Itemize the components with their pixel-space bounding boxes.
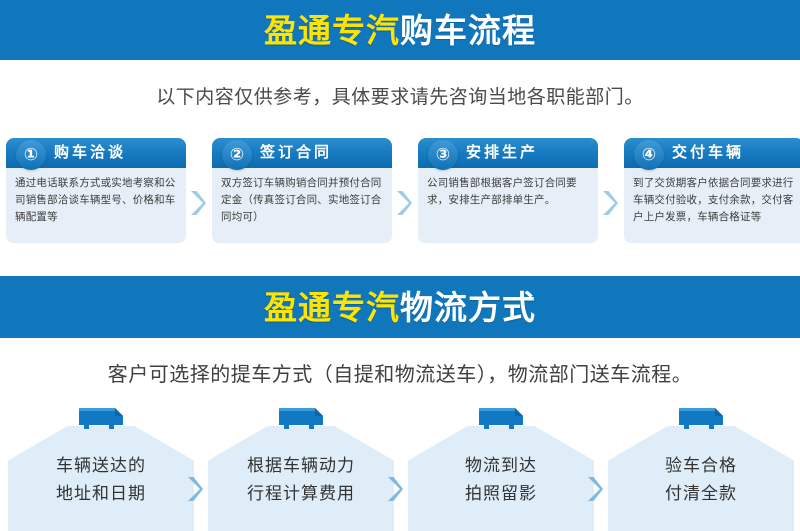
stage-line-2: 行程计算费用 — [208, 480, 394, 508]
purchase-banner: 盈通专汽购车流程 — [0, 0, 800, 60]
truck-icon — [73, 404, 129, 434]
stage-line-2: 付清全款 — [608, 480, 794, 508]
logistics-banner-highlight: 盈通专汽 — [264, 289, 400, 326]
step-title-1: 购车洽谈 — [54, 138, 126, 168]
purchase-banner-title: 盈通专汽购车流程 — [264, 14, 536, 47]
logistics-subtitle: 客户可选择的提车方式（自提和物流送车），物流部门送车流程。 — [0, 358, 800, 387]
stage-line-1: 车辆送达的 — [8, 452, 194, 480]
step-description-3: 公司销售部根据客户签订合同要求，安排生产部排单生产。 — [427, 175, 590, 209]
step-number-badge-4: ④ — [634, 140, 664, 170]
chevron-right-icon — [601, 190, 618, 216]
truck-icon — [473, 404, 529, 434]
logistics-stage-card-3[interactable]: 物流到达 拍照留影 — [408, 404, 594, 531]
logistics-stage-card-4[interactable]: 验车合格 付清全款 — [608, 404, 794, 531]
step-number-badge-1: ① — [16, 140, 46, 170]
step-description-4: 到了交货期客户依据合同要求进行车辆交付验收，支付余款，交付客户上户发票，车辆合格… — [633, 175, 796, 226]
logistics-banner-title: 盈通专汽物流方式 — [264, 291, 536, 324]
logistics-stage-card-2[interactable]: 根据车辆动力 行程计算费用 — [208, 404, 394, 531]
step-description-2: 双方签订车辆购销合同并预付合同定金（传真签订合同、实地签订合同均可） — [221, 175, 384, 226]
logistics-banner: 盈通专汽物流方式 — [0, 276, 800, 338]
purchase-banner-highlight: 盈通专汽 — [264, 12, 400, 49]
step-title-3: 安排生产 — [466, 138, 538, 168]
stage-line-1: 验车合格 — [608, 452, 794, 480]
logistics-stage-text-2: 根据车辆动力 行程计算费用 — [208, 452, 394, 508]
purchase-step-card-3[interactable]: ③ 安排生产 公司销售部根据客户签订合同要求，安排生产部排单生产。 — [418, 138, 598, 243]
logistics-stage-card-1[interactable]: 车辆送达的 地址和日期 — [8, 404, 194, 531]
step-number-badge-2: ② — [222, 140, 252, 170]
logistics-stage-text-1: 车辆送达的 地址和日期 — [8, 452, 194, 508]
logistics-stage-text-4: 验车合格 付清全款 — [608, 452, 794, 508]
step-title-2: 签订合同 — [260, 138, 332, 168]
purchase-step-card-2[interactable]: ② 签订合同 双方签订车辆购销合同并预付合同定金（传真签订合同、实地签订合同均可… — [212, 138, 392, 243]
step-number-badge-3: ③ — [428, 140, 458, 170]
stage-line-1: 根据车辆动力 — [208, 452, 394, 480]
purchase-step-card-4[interactable]: ④ 交付车辆 到了交货期客户依据合同要求进行车辆交付验收，支付余款，交付客户上户… — [624, 138, 800, 243]
chevron-right-icon — [395, 190, 412, 216]
purchase-step-card-1[interactable]: ① 购车洽谈 通过电话联系方式或实地考察和公司销售部洽谈车辆型号、价格和车辆配置… — [6, 138, 186, 243]
step-description-1: 通过电话联系方式或实地考察和公司销售部洽谈车辆型号、价格和车辆配置等 — [15, 175, 178, 226]
stage-line-2: 拍照留影 — [408, 480, 594, 508]
truck-icon — [273, 404, 329, 434]
purchase-subtitle: 以下内容仅供参考，具体要求请先咨询当地各职能部门。 — [0, 82, 800, 109]
step-title-4: 交付车辆 — [672, 138, 744, 168]
truck-icon — [673, 404, 729, 434]
stage-line-2: 地址和日期 — [8, 480, 194, 508]
purchase-banner-rest: 购车流程 — [400, 12, 536, 49]
stage-line-1: 物流到达 — [408, 452, 594, 480]
chevron-right-icon — [189, 190, 206, 216]
logistics-stage-text-3: 物流到达 拍照留影 — [408, 452, 594, 508]
logistics-banner-rest: 物流方式 — [400, 289, 536, 326]
logistics-stages-row: 车辆送达的 地址和日期 根据车辆动力 行程计算费用 — [0, 404, 800, 531]
